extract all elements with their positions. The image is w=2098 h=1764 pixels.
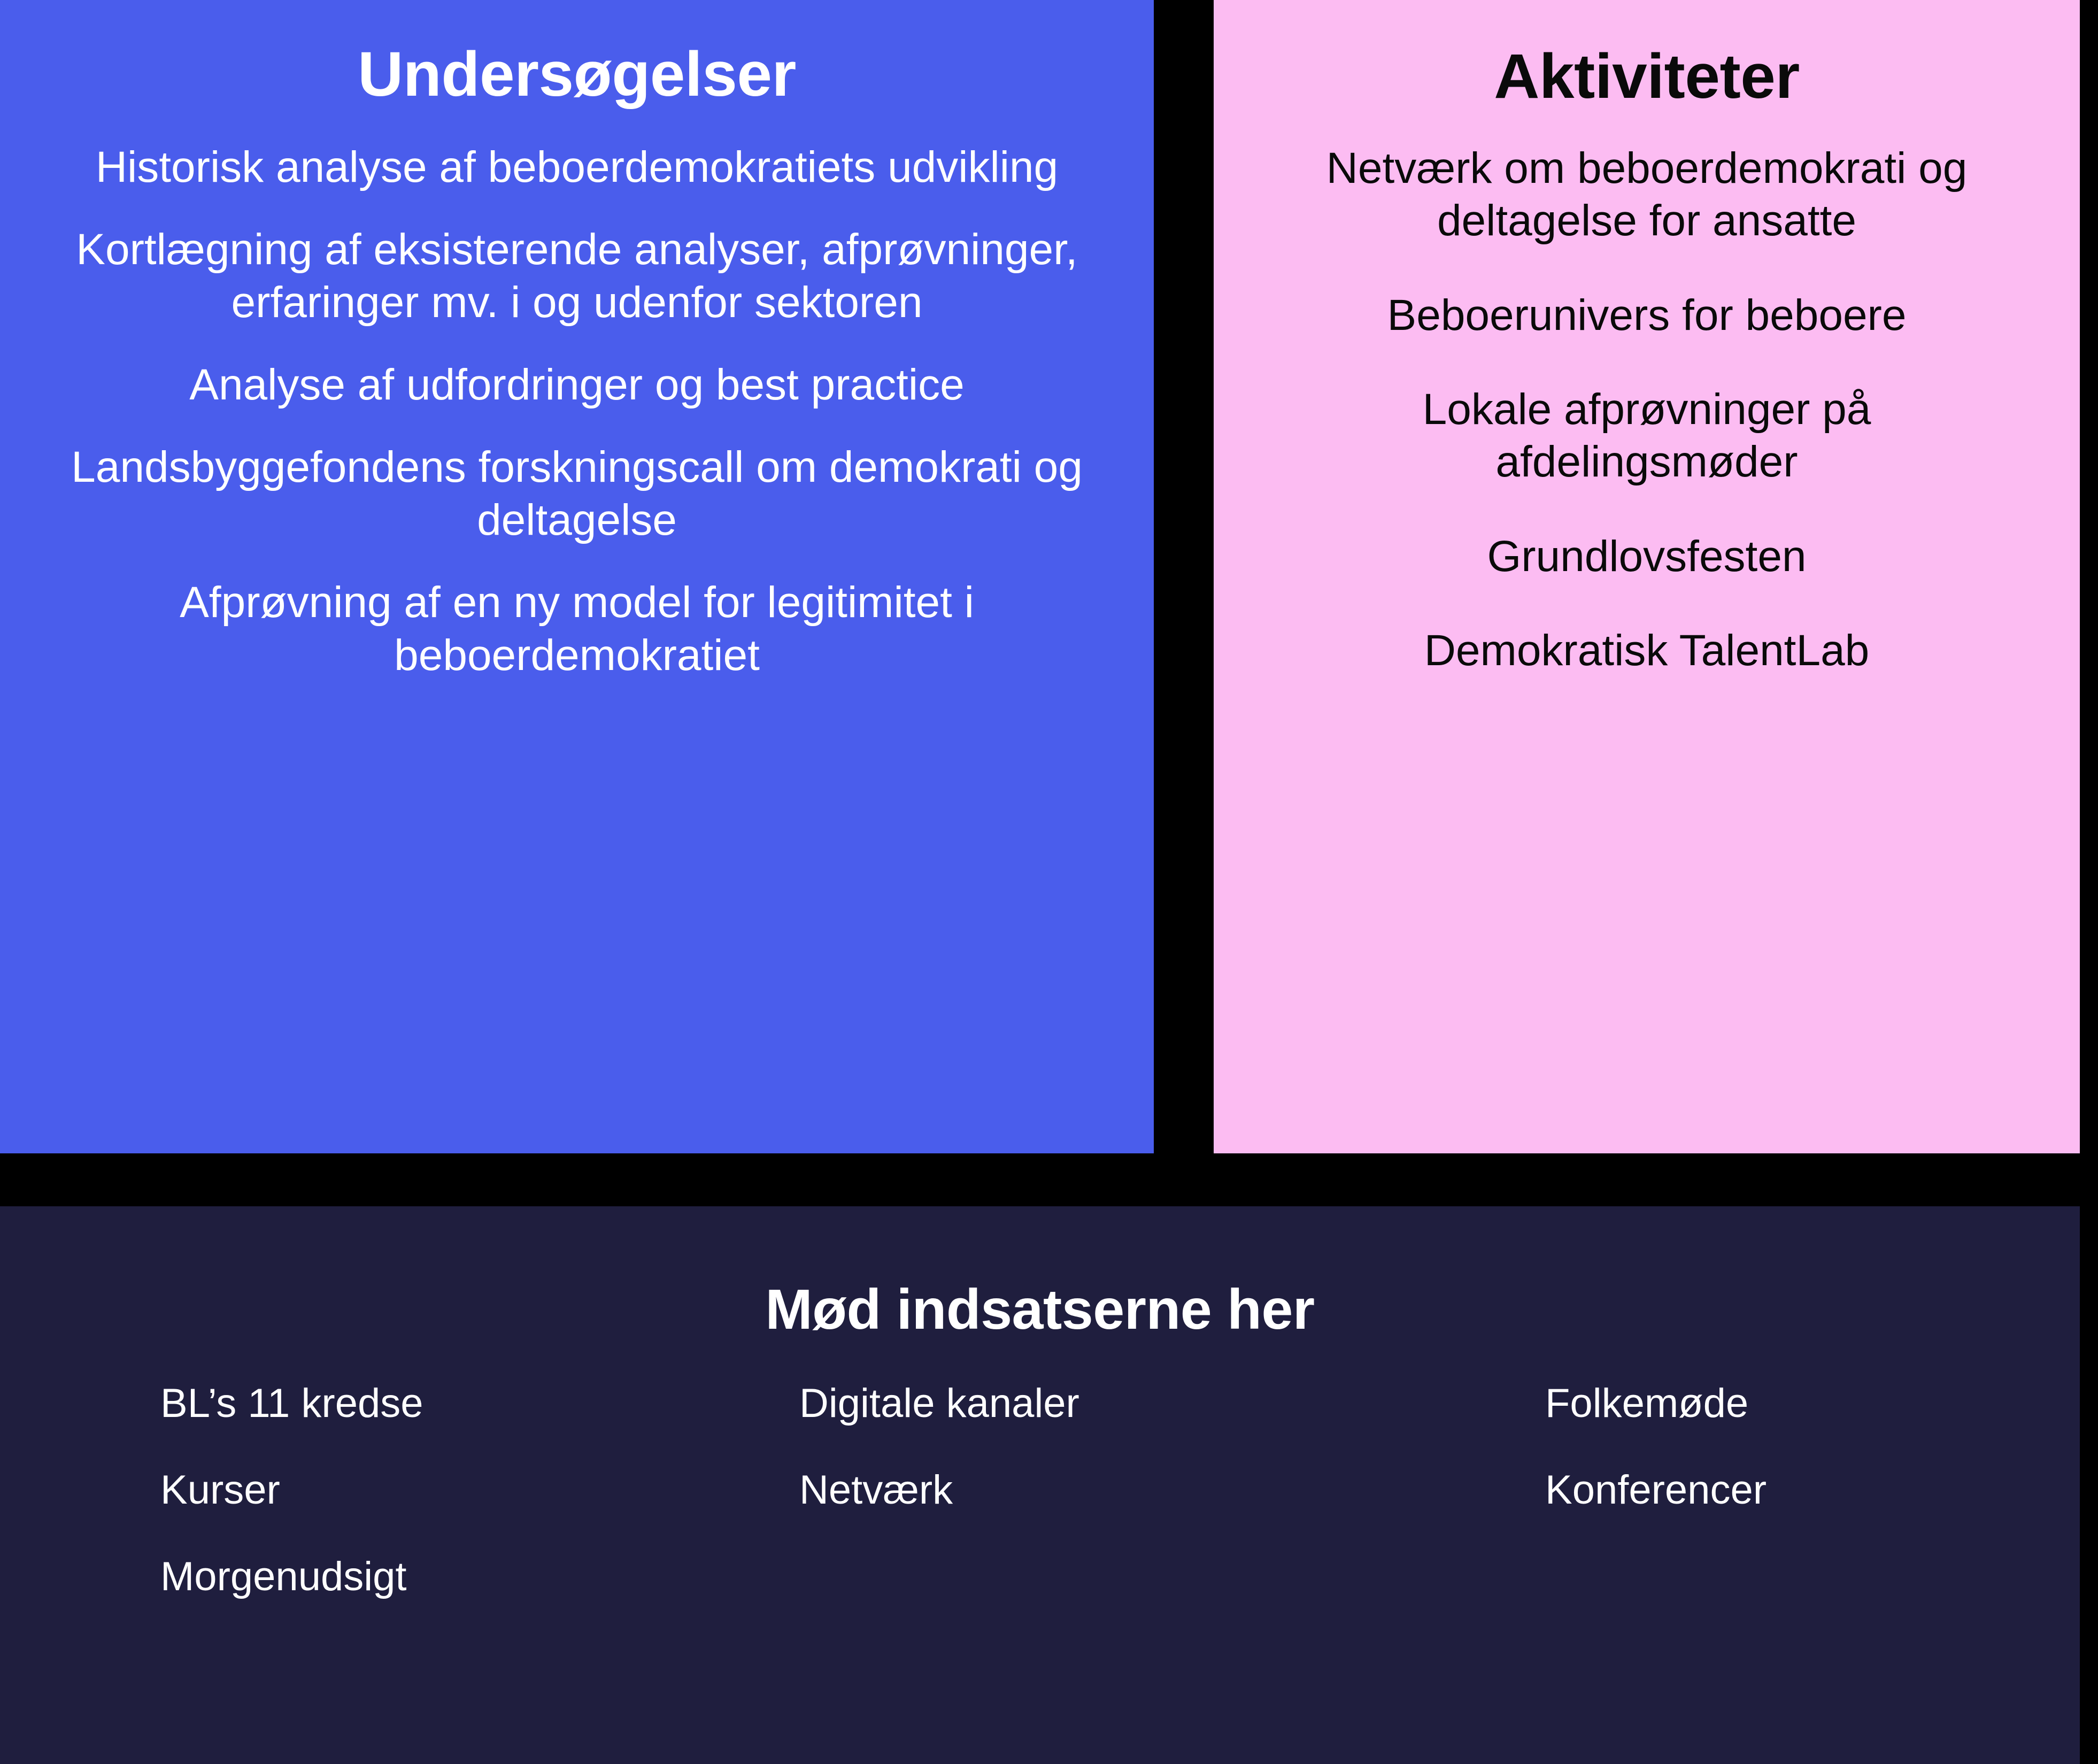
list-item: Demokratisk TalentLab — [1272, 625, 2021, 677]
list-item: Lokale afprøvninger på afdelingsmøder — [1272, 383, 2021, 489]
list-item: Folkemøde — [1545, 1383, 2080, 1424]
mod-indsatserne-panel: Mød indsatserne her BL’s 11 kredse Kurse… — [0, 1206, 2080, 1764]
list-item: Beboerunivers for beboere — [1272, 289, 2021, 342]
list-item: Konferencer — [1545, 1470, 2080, 1511]
list-item: Historisk analyse af beboerdemokratiets … — [64, 141, 1090, 194]
list-item: Netværk — [799, 1470, 1385, 1511]
list-item: Afprøvning af en ny model for legitimite… — [64, 576, 1090, 682]
list-item: Landsbyggefondens forskningscall om demo… — [64, 441, 1090, 546]
indsats-column-right: Folkemøde Konferencer — [1385, 1383, 2080, 1557]
list-item: Kortlægning af eksisterende analyser, af… — [64, 224, 1090, 329]
mod-indsatserne-columns: BL’s 11 kredse Kurser Morgenudsigt Digit… — [0, 1383, 2080, 1643]
aktiviteter-heading: Aktiviteter — [1272, 0, 2021, 142]
list-item: Morgenudsigt — [160, 1557, 674, 1597]
list-item: Kurser — [160, 1470, 674, 1511]
indsats-column-left: BL’s 11 kredse Kurser Morgenudsigt — [0, 1383, 674, 1643]
aktiviteter-panel: Aktiviteter Netværk om beboerdemokrati o… — [1214, 0, 2080, 1153]
list-item: Analyse af udfordringer og best practice — [64, 359, 1090, 411]
undersogelser-item-list: Historisk analyse af beboerdemokratiets … — [64, 141, 1090, 682]
undersogelser-heading: Undersøgelser — [64, 0, 1090, 141]
aktiviteter-item-list: Netværk om beboerdemokrati og deltagelse… — [1272, 142, 2021, 677]
indsats-column-middle: Digitale kanaler Netværk — [674, 1383, 1385, 1557]
undersogelser-panel: Undersøgelser Historisk analyse af beboe… — [0, 0, 1154, 1153]
list-item: Netværk om beboerdemokrati og deltagelse… — [1272, 142, 2021, 248]
list-item: Digitale kanaler — [799, 1383, 1385, 1424]
list-item: BL’s 11 kredse — [160, 1383, 674, 1424]
mod-indsatserne-heading: Mød indsatserne her — [0, 1206, 2080, 1383]
list-item: Grundlovsfesten — [1272, 530, 2021, 583]
